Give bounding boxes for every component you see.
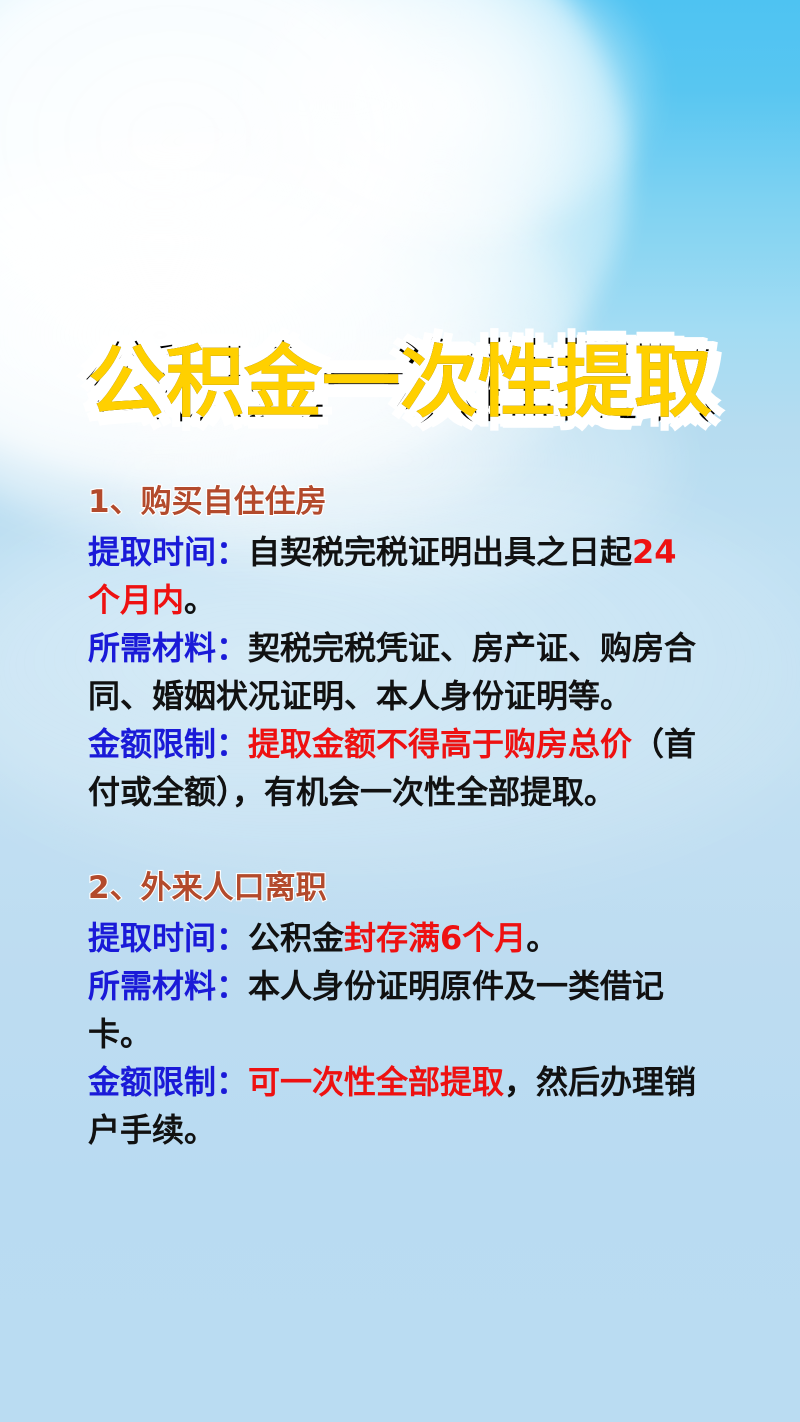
row-label: 提取时间： <box>88 919 248 957</box>
row-body-text: 自契税完税证明出具之日起 <box>248 533 632 571</box>
detail-row: 所需材料：本人身份证明原件及一类借记卡。 <box>88 962 704 1058</box>
poster-root: 公积金一次性提取 1、购买自住住房提取时间：自契税完税证明出具之日起24个月内。… <box>0 0 800 1422</box>
row-body-text: 。 <box>184 581 216 619</box>
row-label: 提取时间： <box>88 533 248 571</box>
title-container: 公积金一次性提取 <box>0 292 800 475</box>
section-2: 2、外来人口离职提取时间：公积金封存满6个月。所需材料：本人身份证明原件及一类借… <box>88 868 704 1154</box>
detail-row: 所需材料：契税完税凭证、房产证、购房合同、婚姻状况证明、本人身份证明等。 <box>88 624 704 720</box>
row-body-text: 公积金 <box>248 919 344 957</box>
content-body: 1、购买自住住房提取时间：自契税完税证明出具之日起24个月内。所需材料：契税完税… <box>88 482 704 1154</box>
row-label: 所需材料： <box>88 629 248 667</box>
section-heading: 2、外来人口离职 <box>88 868 704 909</box>
row-highlight-text: 可一次性全部提取 <box>248 1063 504 1101</box>
row-label: 所需材料： <box>88 967 248 1005</box>
row-highlight-text: 提取金额不得高于购房总价 <box>248 725 632 763</box>
row-label: 金额限制： <box>88 725 248 763</box>
row-label: 金额限制： <box>88 1063 248 1101</box>
page-title: 公积金一次性提取 <box>88 344 712 422</box>
section-1: 1、购买自住住房提取时间：自契税完税证明出具之日起24个月内。所需材料：契税完税… <box>88 482 704 816</box>
detail-row: 金额限制：可一次性全部提取，然后办理销户手续。 <box>88 1058 704 1154</box>
detail-row: 提取时间：自契税完税证明出具之日起24个月内。 <box>88 528 704 624</box>
detail-row: 金额限制：提取金额不得高于购房总价（首付或全额），有机会一次性全部提取。 <box>88 720 704 816</box>
row-body-text: 。 <box>526 919 558 957</box>
row-highlight-text: 封存满6个月 <box>344 919 526 957</box>
section-heading: 1、购买自住住房 <box>88 482 704 523</box>
detail-row: 提取时间：公积金封存满6个月。 <box>88 914 704 962</box>
